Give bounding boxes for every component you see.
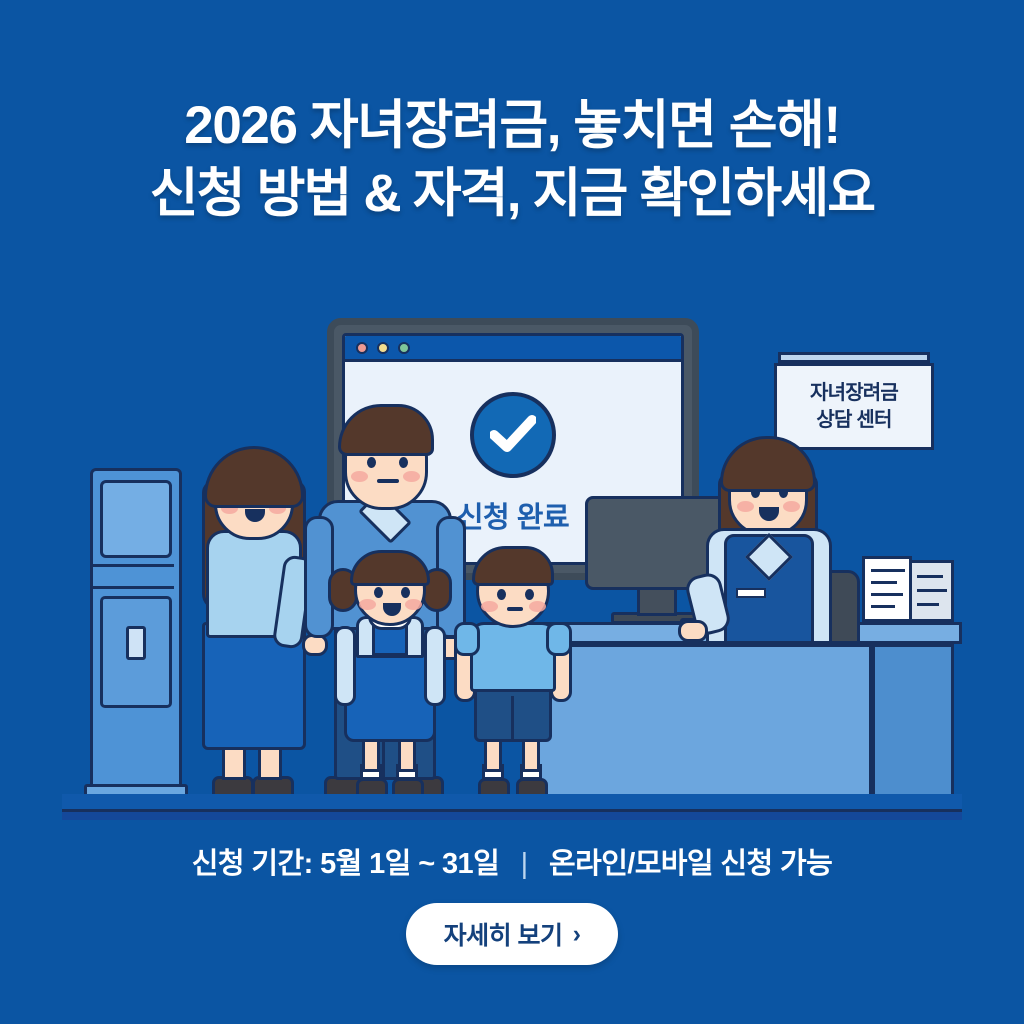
water-cooler — [84, 468, 182, 798]
clerk-figure — [684, 394, 854, 644]
promo-poster: 2026 자녀장려금, 놓치면 손해! 신청 방법 & 자격, 지금 확인하세요 — [0, 0, 1024, 1024]
footer-separator: | — [521, 848, 528, 881]
document-stack — [862, 556, 954, 622]
headline-line-1: 2026 자녀장려금, 놓치면 손해! — [0, 92, 1024, 160]
window-maximize-dot-icon — [398, 342, 410, 354]
sign-top-bar — [778, 352, 930, 363]
details-button-label: 자세히 보기 — [444, 916, 563, 952]
check-circle-icon — [470, 392, 556, 478]
son-figure — [452, 548, 572, 798]
window-close-dot-icon — [356, 342, 368, 354]
application-channel: 온라인/모바일 신청 가능 — [549, 848, 832, 880]
illustration-scene: 신청 완료 자녀장려금 상담 센터 — [62, 300, 962, 820]
application-period: 신청 기간: 5월 1일 ~ 31일 — [192, 848, 499, 880]
footer-info: 신청 기간: 5월 1일 ~ 31일 | 온라인/모바일 신청 가능 — [0, 840, 1024, 882]
daughter-figure — [330, 550, 450, 798]
cta-wrap: 자세히 보기 › — [0, 903, 1024, 965]
chevron-right-icon: › — [573, 920, 581, 949]
floor-line — [62, 809, 962, 820]
browser-titlebar — [345, 336, 681, 362]
service-desk — [514, 622, 962, 798]
details-button[interactable]: 자세히 보기 › — [406, 903, 619, 965]
page-title: 2026 자녀장려금, 놓치면 손해! 신청 방법 & 자격, 지금 확인하세요 — [0, 92, 1024, 228]
headline-line-2: 신청 방법 & 자격, 지금 확인하세요 — [0, 160, 1024, 228]
window-minimize-dot-icon — [377, 342, 389, 354]
